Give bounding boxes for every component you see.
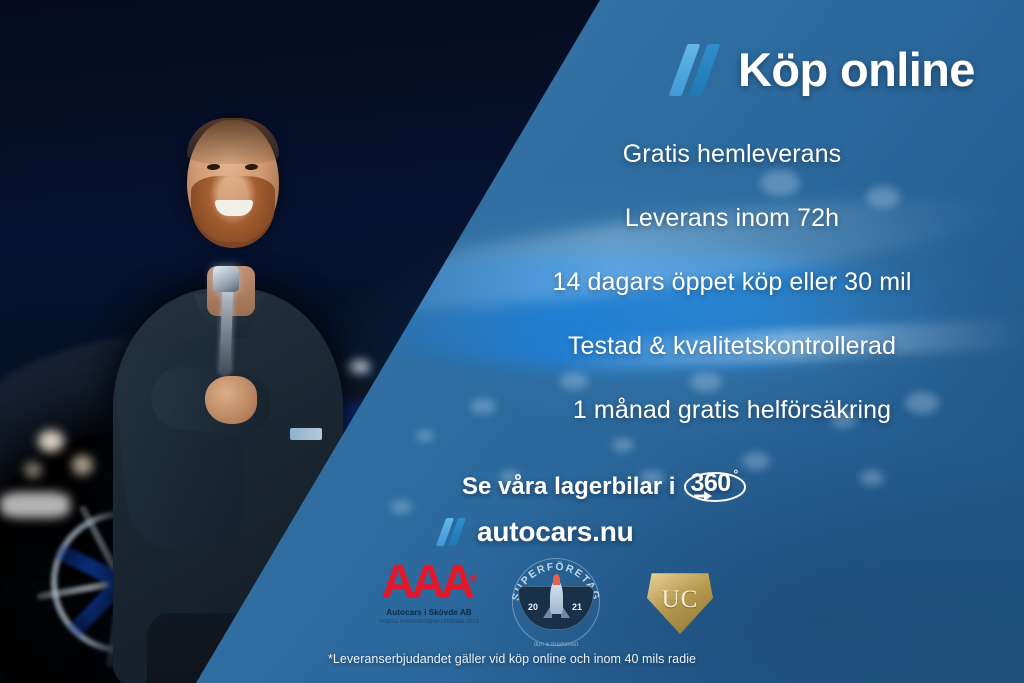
year-left: 20 (528, 602, 538, 612)
rotate-360-arrow-icon: 360 ° (684, 466, 746, 508)
certification-logos: AAA® Autocars i Skövde AB Högsta kreditv… (350, 556, 750, 648)
registered-icon: ® (470, 573, 477, 583)
double-slash-icon (440, 518, 468, 546)
benefits-list: Gratis hemleverans Leverans inom 72h 14 … (440, 140, 1024, 460)
rocket-icon (550, 580, 563, 614)
page-title: Köp online (738, 42, 975, 97)
benefit-item: Testad & kvalitetskontrollerad (440, 332, 1024, 361)
promo-banner: Köp online Gratis hemleverans Leverans i… (0, 0, 1024, 683)
superforetag-logo: SUPERFÖRETAG 20 21 dun & bradstreet (508, 556, 604, 648)
aaa-credit-rating-logo: AAA® Autocars i Skövde AB Högsta kreditv… (364, 560, 494, 626)
disclaimer-text: *Leveranserbjudandet gäller vid köp onli… (0, 652, 1024, 666)
badge-degree: ° (733, 467, 738, 481)
benefit-item: Leverans inom 72h (440, 204, 1024, 233)
panel-content: Köp online Gratis hemleverans Leverans i… (0, 0, 1024, 683)
year-right: 21 (572, 602, 582, 612)
cta-text: Se våra lagerbilar i (462, 473, 675, 501)
benefit-item: 1 månad gratis helförsäkring (440, 396, 1024, 425)
website-domain[interactable]: autocars.nu (477, 516, 634, 548)
benefit-item: Gratis hemleverans (440, 140, 1024, 169)
cta-domain-line[interactable]: autocars.nu (440, 516, 900, 548)
uc-shield-logo: UC (638, 564, 722, 644)
rocket-tip (553, 574, 560, 585)
uc-letters: UC (638, 586, 722, 614)
cta-block[interactable]: Se våra lagerbilar i 360 ° autocars.nu (440, 466, 900, 548)
header: Köp online (676, 42, 975, 97)
logo-source: dun & bradstreet (508, 642, 604, 648)
badge-number: 360 (690, 469, 730, 498)
cta-360-line: Se våra lagerbilar i 360 ° (440, 466, 900, 508)
benefit-item: 14 dagars öppet köp eller 30 mil (440, 268, 1024, 297)
double-slash-icon (676, 44, 722, 96)
aaa-mark: AAA® (364, 560, 494, 606)
aaa-subline: Högsta kreditvärdighet Utfärdad 2021 (364, 618, 494, 626)
